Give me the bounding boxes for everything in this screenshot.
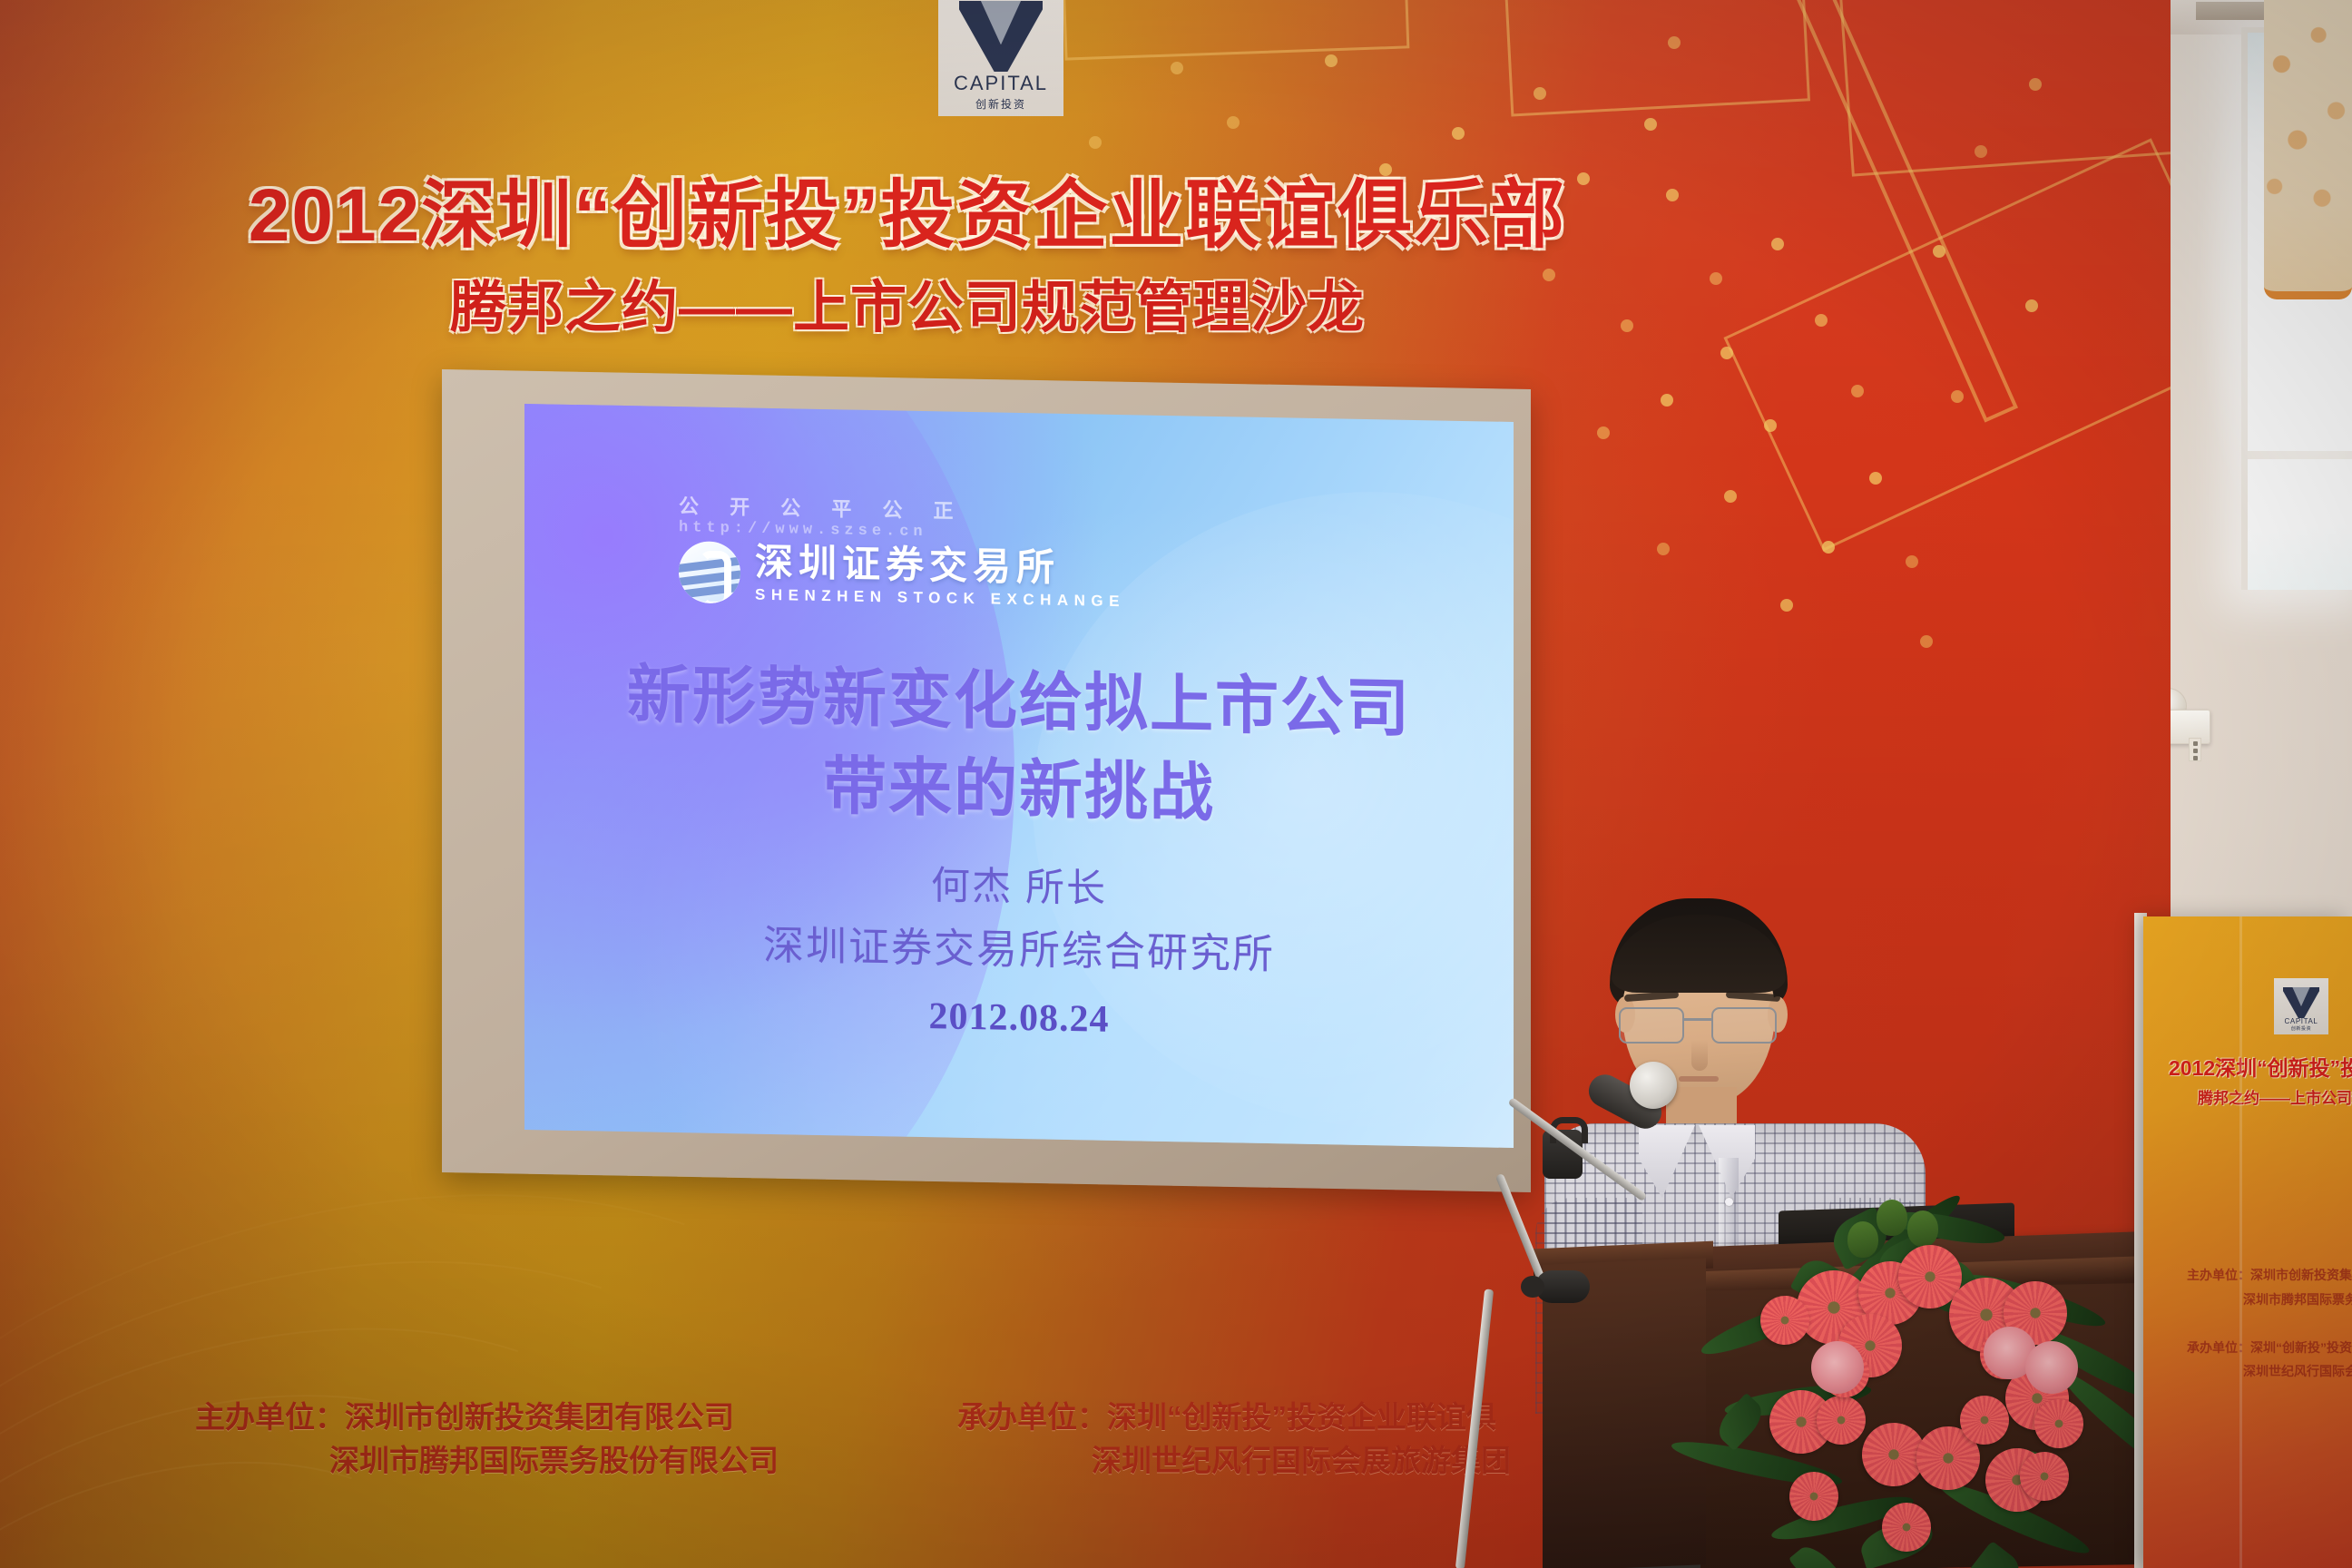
rollup-title: 2012深圳“创新投”投资 <box>2169 1051 2352 1082</box>
banner-subtitle: 腾邦之约——上市公司规范管理沙龙 <box>0 261 1815 343</box>
cohost-label: 承办单位：深圳“创新投”投资企业联谊俱 <box>957 1400 1496 1434</box>
presenter-mouth <box>1679 1076 1719 1082</box>
bud-element <box>1907 1210 1938 1247</box>
slide-presenter-block: 何杰 所长 深圳证券交易所综合研究所 <box>524 848 1514 990</box>
projection-screen: 公 开 公 平 公 正 http://www.szse.cn 深圳证券交易所 S… <box>524 404 1514 1148</box>
szse-logo-text: 深圳证券交易所 SHENZHEN STOCK EXCHANGE <box>755 543 1125 611</box>
banner-title: 2012深圳“创新投”投资企业联谊俱乐部 <box>0 154 1815 262</box>
banner-cohost-credit: 承办单位：深圳“创新投”投资企业联谊俱 深圳世纪风行国际会展旅游集团 <box>957 1396 1511 1483</box>
microphone-adjust-knob[interactable] <box>1535 1270 1590 1303</box>
cohost-line2: 深圳世纪风行国际会展旅游集团 <box>957 1439 1511 1483</box>
rollup-banner-seam <box>2239 916 2242 1568</box>
bud-element <box>1847 1221 1878 1258</box>
rollup-credit-3: 承办单位：深圳“创新投”投资 <box>2187 1340 2352 1355</box>
rose-element <box>2025 1341 2078 1394</box>
rollup-capital-v-icon <box>2283 987 2319 1018</box>
slide-title-line1: 新形势新变化给拟上市公司 <box>524 649 1514 755</box>
rollup-banner: CAPITAL 创新投资 2012深圳“创新投”投资 腾邦之约——上市公司规 主… <box>2143 916 2352 1568</box>
emergency-light-indicators <box>2189 738 2201 761</box>
presenter-nose <box>1691 1040 1708 1071</box>
szse-name-chinese: 深圳证券交易所 <box>755 543 1125 590</box>
slide-title: 新形势新变化给拟上市公司 带来的新挑战 <box>524 649 1514 842</box>
leaf-element <box>1788 1539 1857 1568</box>
capital-logo-chinese: 创新投资 <box>975 96 1026 112</box>
capital-logo-english: CAPITAL <box>954 73 1048 93</box>
capital-v-icon <box>959 1 1043 72</box>
conference-photo-scene: SINO/公司 消防应急照明灯 CAPITAL 创新投资 2012深圳“创新投”… <box>0 0 2352 1568</box>
rollup-subtitle: 腾邦之约——上市公司规 <box>2198 1085 2352 1108</box>
leaf-element <box>1945 1541 2031 1568</box>
rollup-credit-2: 深圳市腾邦国际票务 <box>2187 1288 2352 1312</box>
rollup-logo-english: CAPITAL <box>2285 1018 2318 1025</box>
rollup-credit-4: 深圳世纪风行国际会 <box>2187 1359 2352 1384</box>
flower-arrangement <box>1661 1180 2187 1568</box>
rollup-credits: 主办单位：深圳市创新投资集团 深圳市腾邦国际票务 承办单位：深圳“创新投”投资 … <box>2187 1263 2352 1384</box>
rose-element <box>1811 1341 1864 1394</box>
organizer-label: 主办单位：深圳市创新投资集团有限公司 <box>195 1400 734 1434</box>
rollup-logo-chinese: 创新投资 <box>2291 1025 2311 1032</box>
slide-title-line2: 带来的新挑战 <box>524 737 1514 843</box>
capital-logo: CAPITAL 创新投资 <box>938 0 1063 116</box>
rollup-credit-1: 主办单位：深圳市创新投资集团 <box>2187 1268 2352 1282</box>
banner-organizer-credit: 主办单位：深圳市创新投资集团有限公司 深圳市腾邦国际票务股份有限公司 <box>195 1396 779 1483</box>
microphone-head <box>1630 1062 1677 1109</box>
rollup-capital-logo: CAPITAL 创新投资 <box>2274 978 2328 1034</box>
organizer-line2: 深圳市腾邦国际票务股份有限公司 <box>195 1439 779 1483</box>
bud-element <box>1877 1200 1907 1236</box>
window-mullion <box>2248 451 2352 459</box>
window-curtain <box>2264 0 2352 299</box>
szse-circular-logo-icon <box>679 541 740 603</box>
szse-logo: 深圳证券交易所 SHENZHEN STOCK EXCHANGE <box>679 541 1125 611</box>
